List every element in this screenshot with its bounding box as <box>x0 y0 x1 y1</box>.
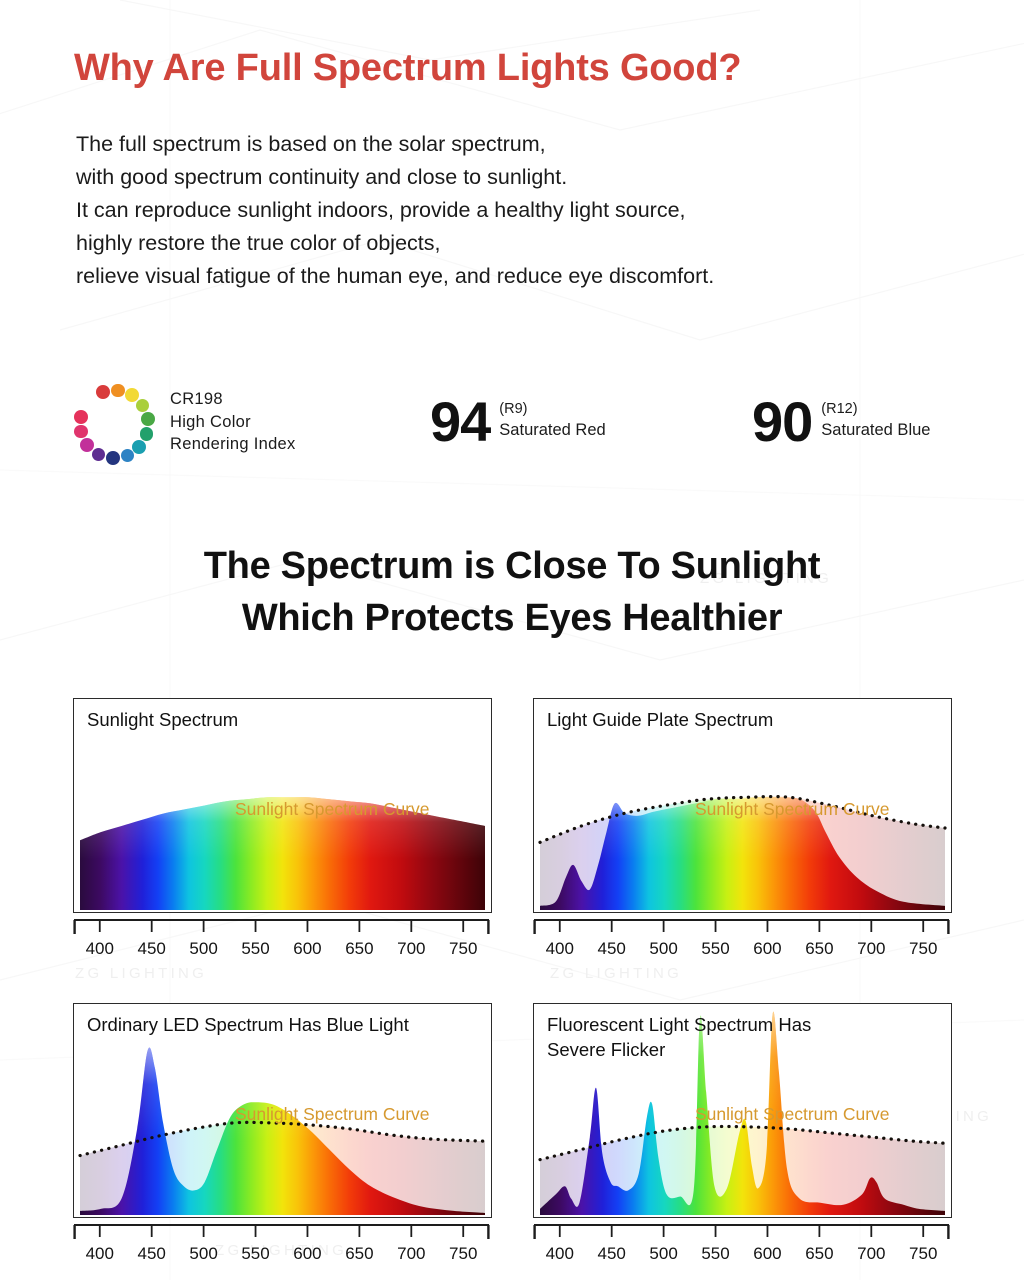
x-axis: 400450500550600650700750 <box>533 919 950 965</box>
intro-line: highly restore the true color of objects… <box>76 227 714 260</box>
axis-tick-labels: 400450500550600650700750 <box>73 1244 490 1270</box>
axis-tick-label: 650 <box>345 939 373 959</box>
chart-title: Ordinary LED Spectrum Has Blue Light <box>87 1012 409 1037</box>
axis-tick-label: 450 <box>598 939 626 959</box>
chart-annotation: Sunlight Spectrum Curve <box>235 799 430 820</box>
axis-tick-label: 450 <box>138 1244 166 1264</box>
color-wheel-dot <box>136 399 149 412</box>
intro-line: It can reproduce sunlight indoors, provi… <box>76 194 714 227</box>
axis-tick-label: 750 <box>449 1244 477 1264</box>
axis-tick-label: 400 <box>86 1244 114 1264</box>
score-r12-code: (R12) <box>821 399 930 420</box>
cri-line-2: High Color <box>170 411 296 434</box>
axis-tick-label: 450 <box>598 1244 626 1264</box>
cri-label-block: CR198 High Color Rendering Index <box>170 388 296 456</box>
chart-annotation: Sunlight Spectrum Curve <box>695 799 890 820</box>
color-wheel-dot <box>74 410 88 424</box>
chart-title: Sunlight Spectrum <box>87 707 238 732</box>
axis-tick-label: 700 <box>397 1244 425 1264</box>
color-wheel-dot <box>121 449 134 462</box>
cri-line-3: Rendering Index <box>170 433 296 456</box>
axis-scale <box>73 1224 490 1246</box>
axis-scale <box>533 1224 950 1246</box>
color-wheel-dot <box>96 385 110 399</box>
color-wheel-dot <box>74 425 87 438</box>
axis-tick-label: 750 <box>909 1244 937 1264</box>
axis-tick-label: 600 <box>293 1244 321 1264</box>
axis-tick-label: 600 <box>293 939 321 959</box>
color-wheel-dot <box>140 427 153 440</box>
axis-tick-label: 650 <box>345 1244 373 1264</box>
axis-tick-label: 750 <box>909 939 937 959</box>
intro-paragraph: The full spectrum is based on the solar … <box>76 128 714 293</box>
chart-title: Fluorescent Light Spectrum Has Severe Fl… <box>547 1012 811 1062</box>
axis-scale <box>73 919 490 941</box>
score-r9: 94(R9)Saturated Red <box>430 394 606 450</box>
score-r12-name: Saturated Blue <box>821 420 930 441</box>
chart-annotation: Sunlight Spectrum Curve <box>235 1104 430 1125</box>
chart-title-line-1: Fluorescent Light Spectrum Has <box>547 1014 811 1035</box>
score-r12-label: (R12)Saturated Blue <box>821 399 930 441</box>
axis-tick-label: 400 <box>546 939 574 959</box>
chart-title: Light Guide Plate Spectrum <box>547 707 773 732</box>
axis-tick-label: 500 <box>189 1244 217 1264</box>
axis-tick-label: 400 <box>86 939 114 959</box>
axis-tick-labels: 400450500550600650700750 <box>533 939 950 965</box>
axis-tick-label: 550 <box>701 1244 729 1264</box>
intro-line: with good spectrum continuity and close … <box>76 161 714 194</box>
plot-area: Light Guide Plate Spectrum Sunlight Spec… <box>533 698 952 913</box>
score-r12: 90(R12)Saturated Blue <box>752 394 930 450</box>
axis-tick-labels: 400450500550600650700750 <box>533 1244 950 1270</box>
axis-tick-label: 450 <box>138 939 166 959</box>
page-title: Why Are Full Spectrum Lights Good? <box>74 47 741 90</box>
score-r12-value: 90 <box>752 394 812 450</box>
axis-tick-label: 700 <box>397 939 425 959</box>
chart-annotation: Sunlight Spectrum Curve <box>695 1104 890 1125</box>
axis-tick-label: 650 <box>805 939 833 959</box>
intro-line: The full spectrum is based on the solar … <box>76 128 714 161</box>
axis-tick-label: 400 <box>546 1244 574 1264</box>
color-wheel-dot <box>111 384 124 397</box>
chart-panel-ordinary-led: Ordinary LED Spectrum Has Blue Light Sun… <box>73 1003 492 1270</box>
watermark-text: ZG LIGHTING <box>550 965 682 982</box>
x-axis: 400450500550600650700750 <box>533 1224 950 1270</box>
x-axis: 400450500550600650700750 <box>73 1224 490 1270</box>
axis-tick-label: 600 <box>753 939 781 959</box>
axis-tick-label: 550 <box>241 939 269 959</box>
axis-tick-label: 500 <box>649 939 677 959</box>
axis-tick-label: 550 <box>701 939 729 959</box>
axis-tick-label: 500 <box>649 1244 677 1264</box>
axis-tick-label: 600 <box>753 1244 781 1264</box>
section-title: The Spectrum is Close To Sunlight Which … <box>0 540 1024 644</box>
intro-line: relieve visual fatigue of the human eye,… <box>76 260 714 293</box>
section-title-line-2: Which Protects Eyes Healthier <box>0 592 1024 644</box>
axis-tick-label: 750 <box>449 939 477 959</box>
plot-area: Fluorescent Light Spectrum Has Severe Fl… <box>533 1003 952 1218</box>
axis-scale <box>533 919 950 941</box>
section-title-line-1: The Spectrum is Close To Sunlight <box>0 540 1024 592</box>
color-wheel-dot <box>92 448 105 461</box>
chart-panel-fluorescent: Fluorescent Light Spectrum Has Severe Fl… <box>533 1003 952 1270</box>
color-wheel-dot <box>141 412 155 426</box>
cri-metrics-row: CR198 High Color Rendering Index 94(R9)S… <box>0 372 1024 472</box>
axis-tick-label: 550 <box>241 1244 269 1264</box>
axis-tick-label: 700 <box>857 939 885 959</box>
plot-area: Ordinary LED Spectrum Has Blue Light Sun… <box>73 1003 492 1218</box>
score-r9-name: Saturated Red <box>499 420 605 441</box>
axis-tick-label: 500 <box>189 939 217 959</box>
x-axis: 400450500550600650700750 <box>73 919 490 965</box>
watermark-text: ZG LIGHTING <box>75 965 207 982</box>
color-wheel-dot <box>80 438 94 452</box>
color-wheel-dot <box>106 451 120 465</box>
color-wheel-icon <box>68 378 160 470</box>
chart-title-line-2: Severe Flicker <box>547 1039 665 1060</box>
chart-panel-light-guide-plate: Light Guide Plate Spectrum Sunlight Spec… <box>533 698 952 965</box>
axis-tick-label: 650 <box>805 1244 833 1264</box>
plot-area: Sunlight Spectrum Sunlight Spectrum Curv… <box>73 698 492 913</box>
score-r9-label: (R9)Saturated Red <box>499 399 605 441</box>
axis-tick-labels: 400450500550600650700750 <box>73 939 490 965</box>
cri-code: CR198 <box>170 388 296 411</box>
axis-tick-label: 700 <box>857 1244 885 1264</box>
color-wheel-dot <box>132 440 146 454</box>
score-r9-code: (R9) <box>499 399 605 420</box>
chart-panel-sunlight: Sunlight Spectrum Sunlight Spectrum Curv… <box>73 698 492 965</box>
score-r9-value: 94 <box>430 394 490 450</box>
